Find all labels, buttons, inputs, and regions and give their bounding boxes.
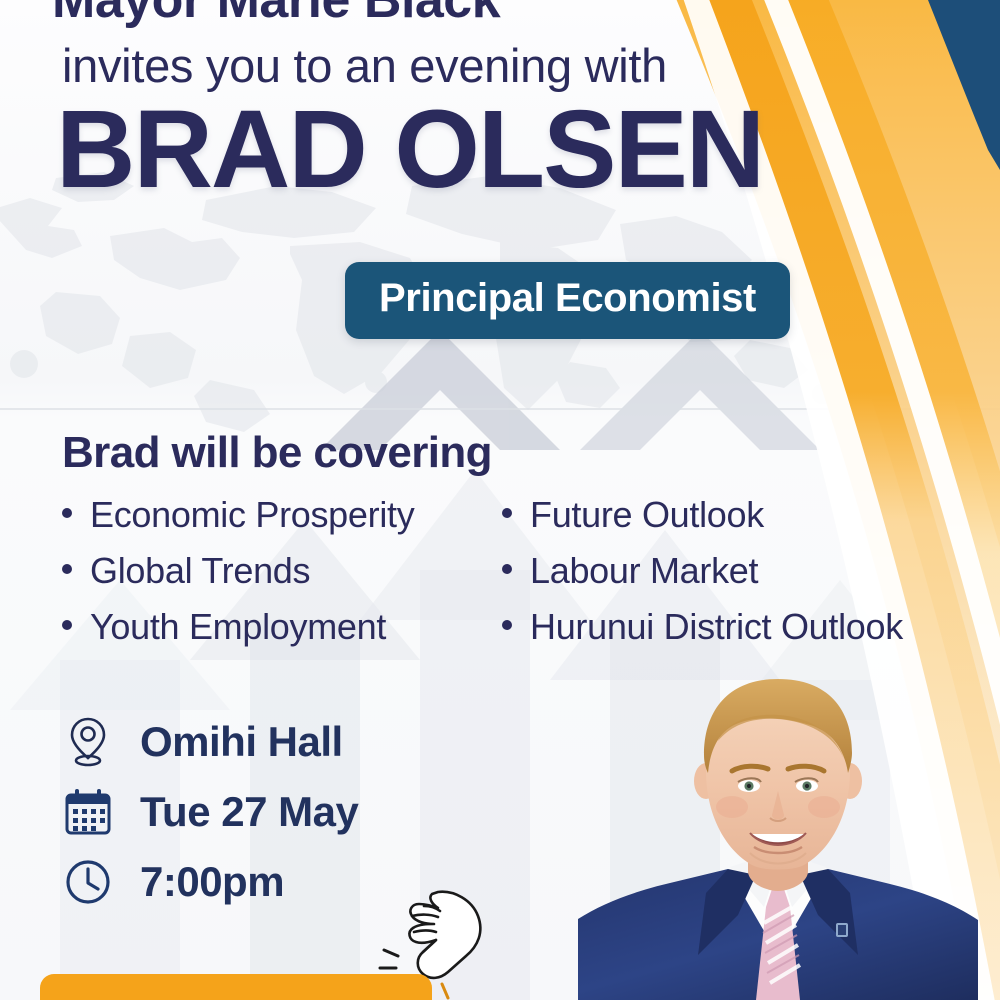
list-item: Global Trends bbox=[62, 550, 502, 592]
list-item-label: Economic Prosperity bbox=[90, 494, 414, 536]
list-item-label: Future Outlook bbox=[530, 494, 764, 536]
list-item: Economic Prosperity bbox=[62, 494, 502, 536]
covering-heading: Brad will be covering bbox=[62, 428, 492, 478]
list-item: Future Outlook bbox=[502, 494, 962, 536]
list-item-label: Hurunui District Outlook bbox=[530, 606, 903, 648]
detail-row-time: 7:00pm bbox=[62, 854, 358, 910]
venue-label: Omihi Hall bbox=[140, 718, 343, 766]
bullet-icon bbox=[502, 508, 512, 518]
host-line: Mayor Marie Black bbox=[52, 0, 500, 30]
bullet-icon bbox=[62, 620, 72, 630]
list-item-label: Global Trends bbox=[90, 550, 310, 592]
page-title: BRAD OLSEN bbox=[56, 92, 763, 208]
bullet-icon bbox=[62, 508, 72, 518]
list-item: Labour Market bbox=[502, 550, 962, 592]
bullet-icon bbox=[502, 620, 512, 630]
brad-olsen-portrait bbox=[578, 655, 978, 1000]
event-details: Omihi Hall bbox=[62, 714, 358, 910]
topics-list: Economic Prosperity Global Trends Youth … bbox=[62, 494, 962, 648]
calendar-icon bbox=[62, 784, 114, 840]
navy-corner-wedge bbox=[870, 0, 1000, 170]
bullet-icon bbox=[502, 564, 512, 574]
time-label: 7:00pm bbox=[140, 858, 284, 906]
location-pin-icon bbox=[62, 714, 114, 770]
event-poster: Mayor Marie Black invites you to an even… bbox=[0, 0, 1000, 1000]
detail-row-venue: Omihi Hall bbox=[62, 714, 358, 770]
orange-bottom-bar[interactable] bbox=[40, 974, 432, 1000]
invitation-line: invites you to an evening with bbox=[62, 38, 667, 93]
date-label: Tue 27 May bbox=[140, 788, 358, 836]
status-badge: Principal Economist bbox=[345, 262, 790, 339]
bullet-icon bbox=[62, 564, 72, 574]
topics-column-right: Future Outlook Labour Market Hurunui Dis… bbox=[502, 494, 962, 648]
list-item-label: Youth Employment bbox=[90, 606, 386, 648]
topics-column-left: Economic Prosperity Global Trends Youth … bbox=[62, 494, 502, 648]
clock-icon bbox=[62, 854, 114, 910]
list-item-label: Labour Market bbox=[530, 550, 758, 592]
detail-row-date: Tue 27 May bbox=[62, 784, 358, 840]
list-item: Youth Employment bbox=[62, 606, 502, 648]
list-item: Hurunui District Outlook bbox=[502, 606, 962, 648]
